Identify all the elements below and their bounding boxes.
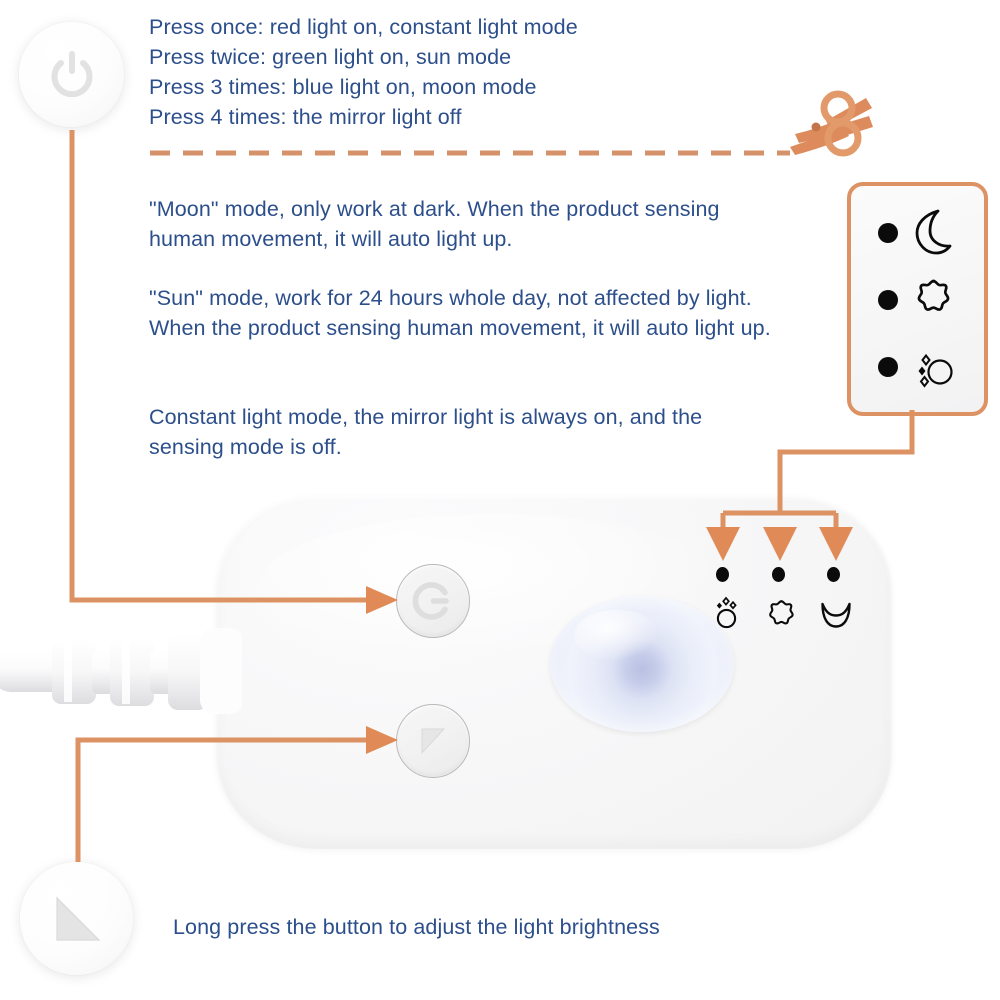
- triangle-icon: [42, 884, 112, 954]
- legend-led-dot-moon: [878, 223, 898, 243]
- led-indicator-constant: [716, 567, 729, 582]
- sun-mode-description: "Sun" mode, work for 24 hours whole day,…: [149, 283, 774, 343]
- moon-icon: [911, 208, 955, 258]
- moon-mode-description: "Moon" mode, only work at dark. When the…: [149, 194, 749, 254]
- triangle-icon: [413, 721, 453, 761]
- constant-light-icon: [709, 596, 743, 630]
- sun-icon: [764, 598, 798, 632]
- brightness-button-callout: [20, 862, 133, 975]
- legend-row-sun: [851, 269, 984, 331]
- legend-glyph-moon: [911, 208, 955, 258]
- legend-row-moon: [851, 202, 984, 264]
- power-cable: [0, 628, 242, 714]
- power-icon: [42, 45, 102, 105]
- mode-legend-card: [847, 182, 988, 416]
- power-g-icon: [411, 579, 455, 623]
- scissors-icon: [790, 94, 873, 155]
- moon-icon: [818, 599, 854, 633]
- device-brightness-button[interactable]: [396, 704, 470, 778]
- legend-glyph-constant: [911, 344, 957, 390]
- sensor-highlight: [574, 610, 659, 662]
- brightness-caption: Long press the button to adjust the ligh…: [173, 912, 813, 942]
- device-power-button[interactable]: [396, 564, 470, 638]
- legend-led-dot-constant: [878, 357, 898, 377]
- led-indicator-sun: [772, 567, 785, 582]
- sun-icon: [911, 277, 955, 323]
- led-indicator-moon: [827, 567, 840, 582]
- pir-sensor-dome: [550, 596, 734, 732]
- legend-row-constant: [851, 336, 984, 398]
- constant-light-icon: [911, 344, 957, 390]
- constant-mode-description: Constant light mode, the mirror light is…: [149, 402, 769, 462]
- legend-led-dot-sun: [878, 290, 898, 310]
- press-sequence-list: Press once: red light on, constant light…: [149, 12, 709, 132]
- legend-glyph-sun: [911, 277, 955, 323]
- infographic-canvas: Press once: red light on, constant light…: [0, 0, 1000, 1000]
- power-button-callout: [19, 22, 124, 127]
